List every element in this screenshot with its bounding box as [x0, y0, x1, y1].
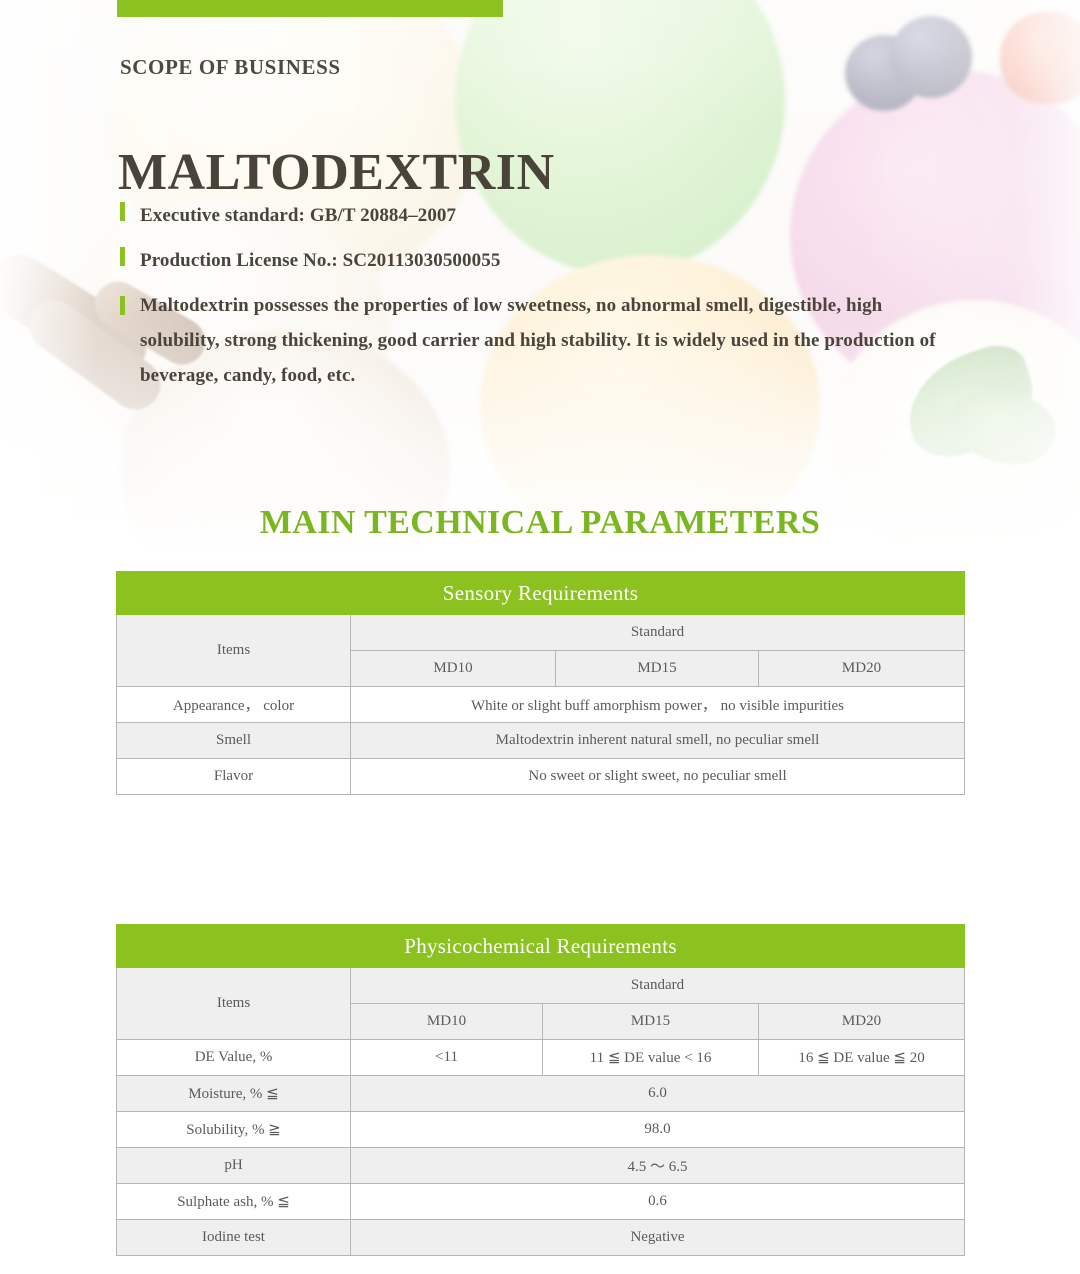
sensory-table-container: Sensory Requirements Items Standard MD10…: [116, 571, 964, 795]
section-title: MAIN TECHNICAL PARAMETERS: [0, 504, 1080, 542]
table-title-row: Sensory Requirements: [117, 572, 965, 615]
row-value: No sweet or slight sweet, no peculiar sm…: [351, 759, 965, 795]
table-header-row: Items Standard: [117, 968, 965, 1004]
row-value-md10: <11: [351, 1040, 543, 1076]
sensory-table-title: Sensory Requirements: [117, 572, 965, 615]
page-title: MALTODEXTRIN: [118, 143, 555, 202]
column-header-items: Items: [117, 968, 351, 1040]
table-row: pH 4.5 ～ 6.5: [117, 1148, 965, 1184]
row-label: pH: [117, 1148, 351, 1184]
table-row: Smell Maltodextrin inherent natural smel…: [117, 723, 965, 759]
row-value: White or slight buff amorphism power， no…: [351, 687, 965, 723]
row-label: Appearance， color: [117, 687, 351, 723]
column-header-md20: MD20: [759, 1004, 965, 1040]
table-row: DE Value, % <11 11 ≦ DE value < 16 16 ≦ …: [117, 1040, 965, 1076]
product-spec-page: SCOPE OF BUSINESS MALTODEXTRIN Executive…: [0, 0, 1080, 1274]
list-item: Maltodextrin possesses the properties of…: [120, 288, 950, 393]
column-header-md10: MD10: [351, 651, 556, 687]
row-value: 98.0: [351, 1112, 965, 1148]
physchem-table-title: Physicochemical Requirements: [117, 925, 965, 968]
row-label: Moisture, % ≦: [117, 1076, 351, 1112]
column-header-md15: MD15: [556, 651, 759, 687]
table-title-row: Physicochemical Requirements: [117, 925, 965, 968]
row-value: Negative: [351, 1220, 965, 1256]
list-item: Executive standard: GB/T 20884–2007: [120, 198, 950, 233]
row-value-md20: 16 ≦ DE value ≦ 20: [759, 1040, 965, 1076]
row-label: DE Value, %: [117, 1040, 351, 1076]
bullet-text: Executive standard: GB/T 20884–2007: [140, 198, 456, 233]
top-accent-bar: [117, 0, 503, 17]
column-header-standard: Standard: [351, 968, 965, 1004]
table-header-row: Items Standard: [117, 615, 965, 651]
bullet-text: Production License No.: SC20113030500055: [140, 243, 500, 278]
column-header-md15: MD15: [543, 1004, 759, 1040]
table-row: Iodine test Negative: [117, 1220, 965, 1256]
row-value: Maltodextrin inherent natural smell, no …: [351, 723, 965, 759]
kicker-label: SCOPE OF BUSINESS: [120, 55, 341, 80]
column-header-standard: Standard: [351, 615, 965, 651]
row-label: Smell: [117, 723, 351, 759]
table-row: Appearance， color White or slight buff a…: [117, 687, 965, 723]
row-value: 0.6: [351, 1184, 965, 1220]
row-label: Flavor: [117, 759, 351, 795]
row-label: Iodine test: [117, 1220, 351, 1256]
bullet-marker-icon: [120, 247, 125, 266]
table-row: Solubility, % ≧ 98.0: [117, 1112, 965, 1148]
bullet-marker-icon: [120, 296, 125, 315]
physicochemical-table-container: Physicochemical Requirements Items Stand…: [116, 924, 964, 1256]
table-row: Sulphate ash, % ≦ 0.6: [117, 1184, 965, 1220]
column-header-items: Items: [117, 615, 351, 687]
row-value: 4.5 ～ 6.5: [351, 1148, 965, 1184]
physicochemical-requirements-table: Physicochemical Requirements Items Stand…: [116, 924, 965, 1256]
bullet-text: Maltodextrin possesses the properties of…: [140, 288, 950, 393]
bullet-marker-icon: [120, 202, 125, 221]
column-header-md10: MD10: [351, 1004, 543, 1040]
row-label: Solubility, % ≧: [117, 1112, 351, 1148]
sensory-requirements-table: Sensory Requirements Items Standard MD10…: [116, 571, 965, 795]
column-header-md20: MD20: [759, 651, 965, 687]
row-label: Sulphate ash, % ≦: [117, 1184, 351, 1220]
row-value: 6.0: [351, 1076, 965, 1112]
list-item: Production License No.: SC20113030500055: [120, 243, 950, 278]
table-row: Flavor No sweet or slight sweet, no pecu…: [117, 759, 965, 795]
table-row: Moisture, % ≦ 6.0: [117, 1076, 965, 1112]
row-value-md15: 11 ≦ DE value < 16: [543, 1040, 759, 1076]
hero-bullet-list: Executive standard: GB/T 20884–2007 Prod…: [120, 198, 950, 403]
